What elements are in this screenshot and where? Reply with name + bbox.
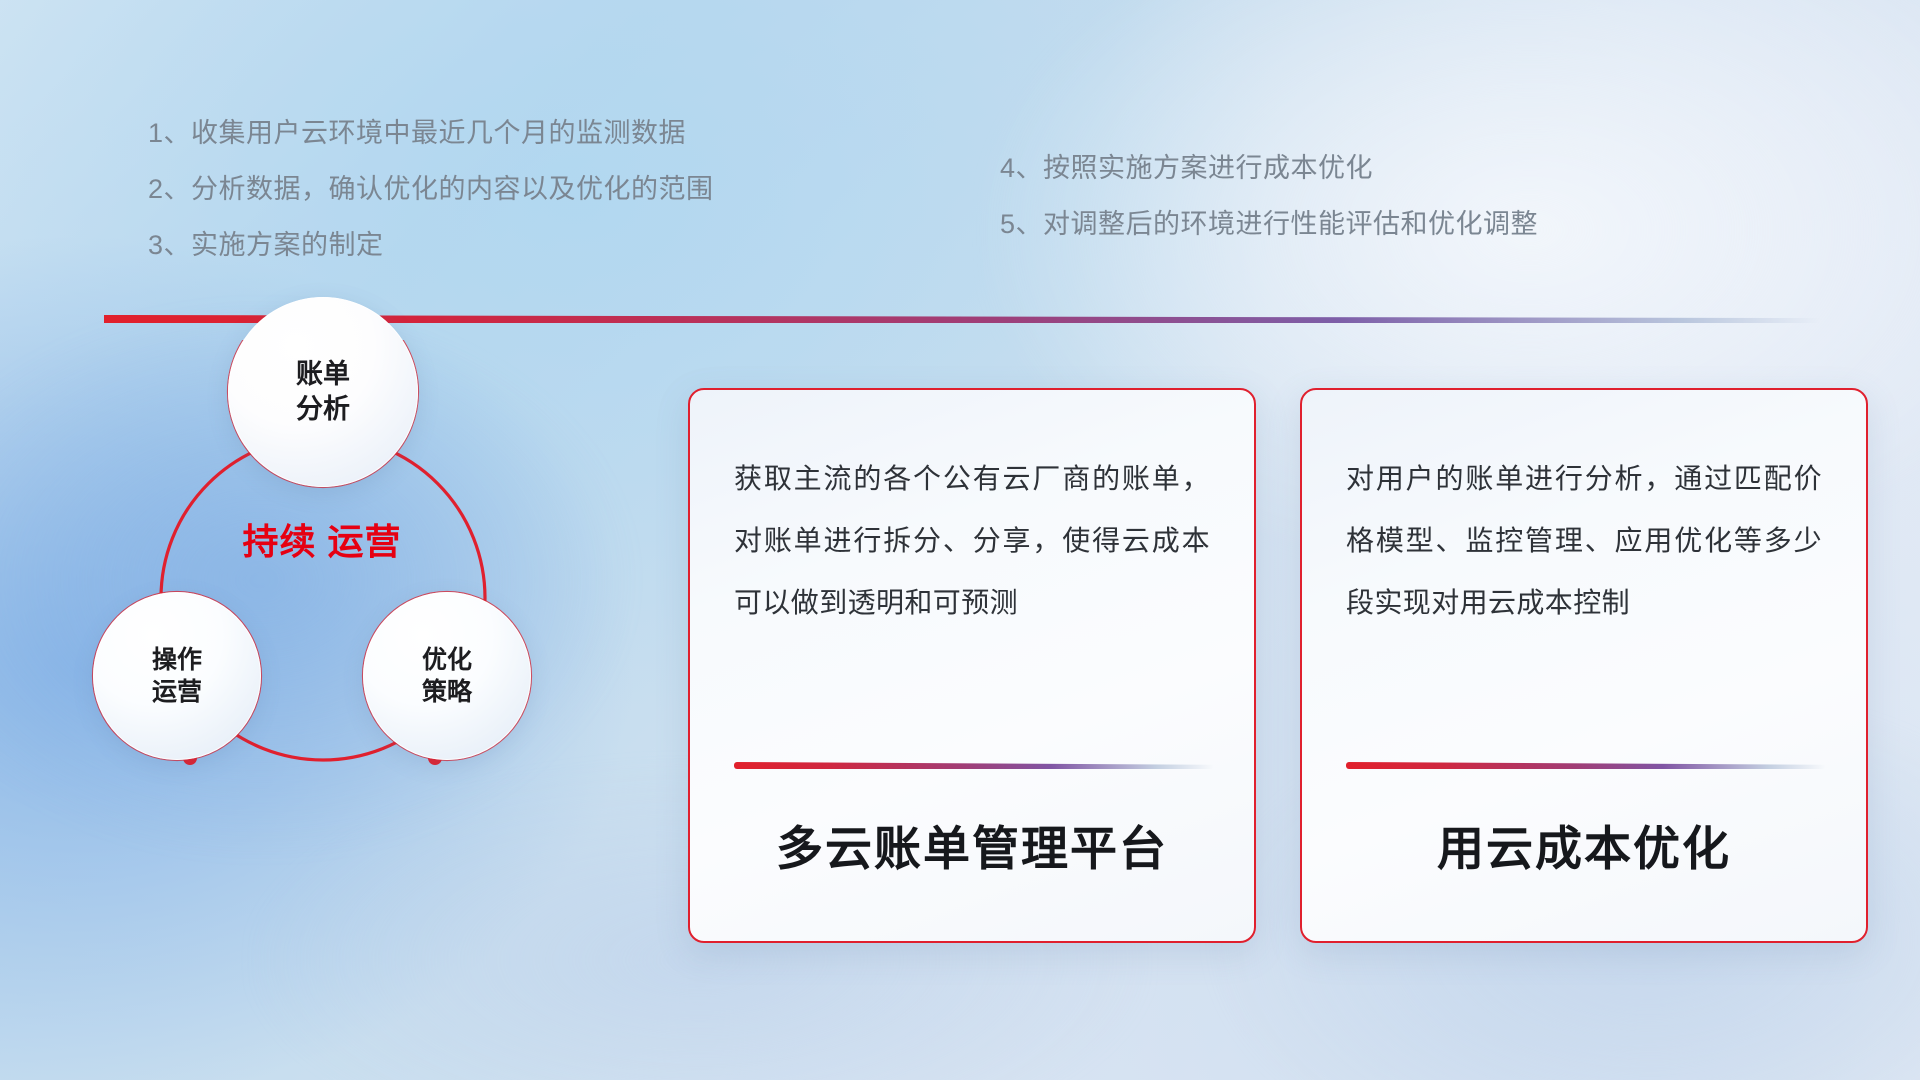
step-item: 5、对调整后的环境进行性能评估和优化调整	[1000, 211, 1538, 238]
venn-bubble-label-line2: 运营	[152, 676, 202, 708]
venn-center-label: 持续 运营	[232, 520, 412, 564]
info-card-cloud-cost-optimization[interactable]: 对用户的账单进行分析，通过匹配价格模型、监控管理、应用优化等多少段实现对用云成本…	[1300, 388, 1868, 943]
venn-bubble-label-line1: 操作	[152, 644, 202, 676]
card-title: 用云成本优化	[1302, 810, 1866, 879]
step-item: 4、按照实施方案进行成本优化	[1000, 155, 1538, 182]
card-accent-rule	[1346, 762, 1826, 769]
card-accent-rule	[734, 762, 1214, 769]
card-body-text: 获取主流的各个公有云厂商的账单，对账单进行拆分、分享，使得云成本可以做到透明和可…	[734, 448, 1210, 634]
venn-center-label-line2: 运营	[328, 521, 402, 562]
steps-right-column: 4、按照实施方案进行成本优化 5、对调整后的环境进行性能评估和优化调整	[1000, 155, 1538, 267]
steps-left-column: 1、收集用户云环境中最近几个月的监测数据 2、分析数据，确认优化的内容以及优化的…	[148, 120, 714, 288]
venn-bubble-billing-analysis[interactable]: 账单 分析	[228, 297, 418, 487]
step-item: 2、分析数据，确认优化的内容以及优化的范围	[148, 176, 714, 203]
venn-center-label-line1: 持续	[242, 521, 316, 562]
venn-bubble-label-line2: 分析	[296, 392, 350, 427]
step-item: 1、收集用户云环境中最近几个月的监测数据	[148, 120, 714, 147]
card-title: 多云账单管理平台	[690, 810, 1254, 879]
venn-bubble-label-line1: 账单	[296, 357, 350, 392]
info-card-multicloud-billing[interactable]: 获取主流的各个公有云厂商的账单，对账单进行拆分、分享，使得云成本可以做到透明和可…	[688, 388, 1256, 943]
venn-bubble-label-line2: 策略	[422, 676, 472, 708]
step-item: 3、实施方案的制定	[148, 232, 714, 259]
venn-bubble-optimization-strategy[interactable]: 优化 策略	[363, 592, 531, 760]
card-body-text: 对用户的账单进行分析，通过匹配价格模型、监控管理、应用优化等多少段实现对用云成本…	[1346, 448, 1822, 634]
venn-bubble-label-line1: 优化	[422, 644, 472, 676]
slide-canvas: 1、收集用户云环境中最近几个月的监测数据 2、分析数据，确认优化的内容以及优化的…	[0, 0, 1920, 1080]
venn-bubble-operations[interactable]: 操作 运营	[93, 592, 261, 760]
venn-diagram: 账单 分析 操作 运营 优化 策略 持续 运营	[80, 340, 600, 860]
